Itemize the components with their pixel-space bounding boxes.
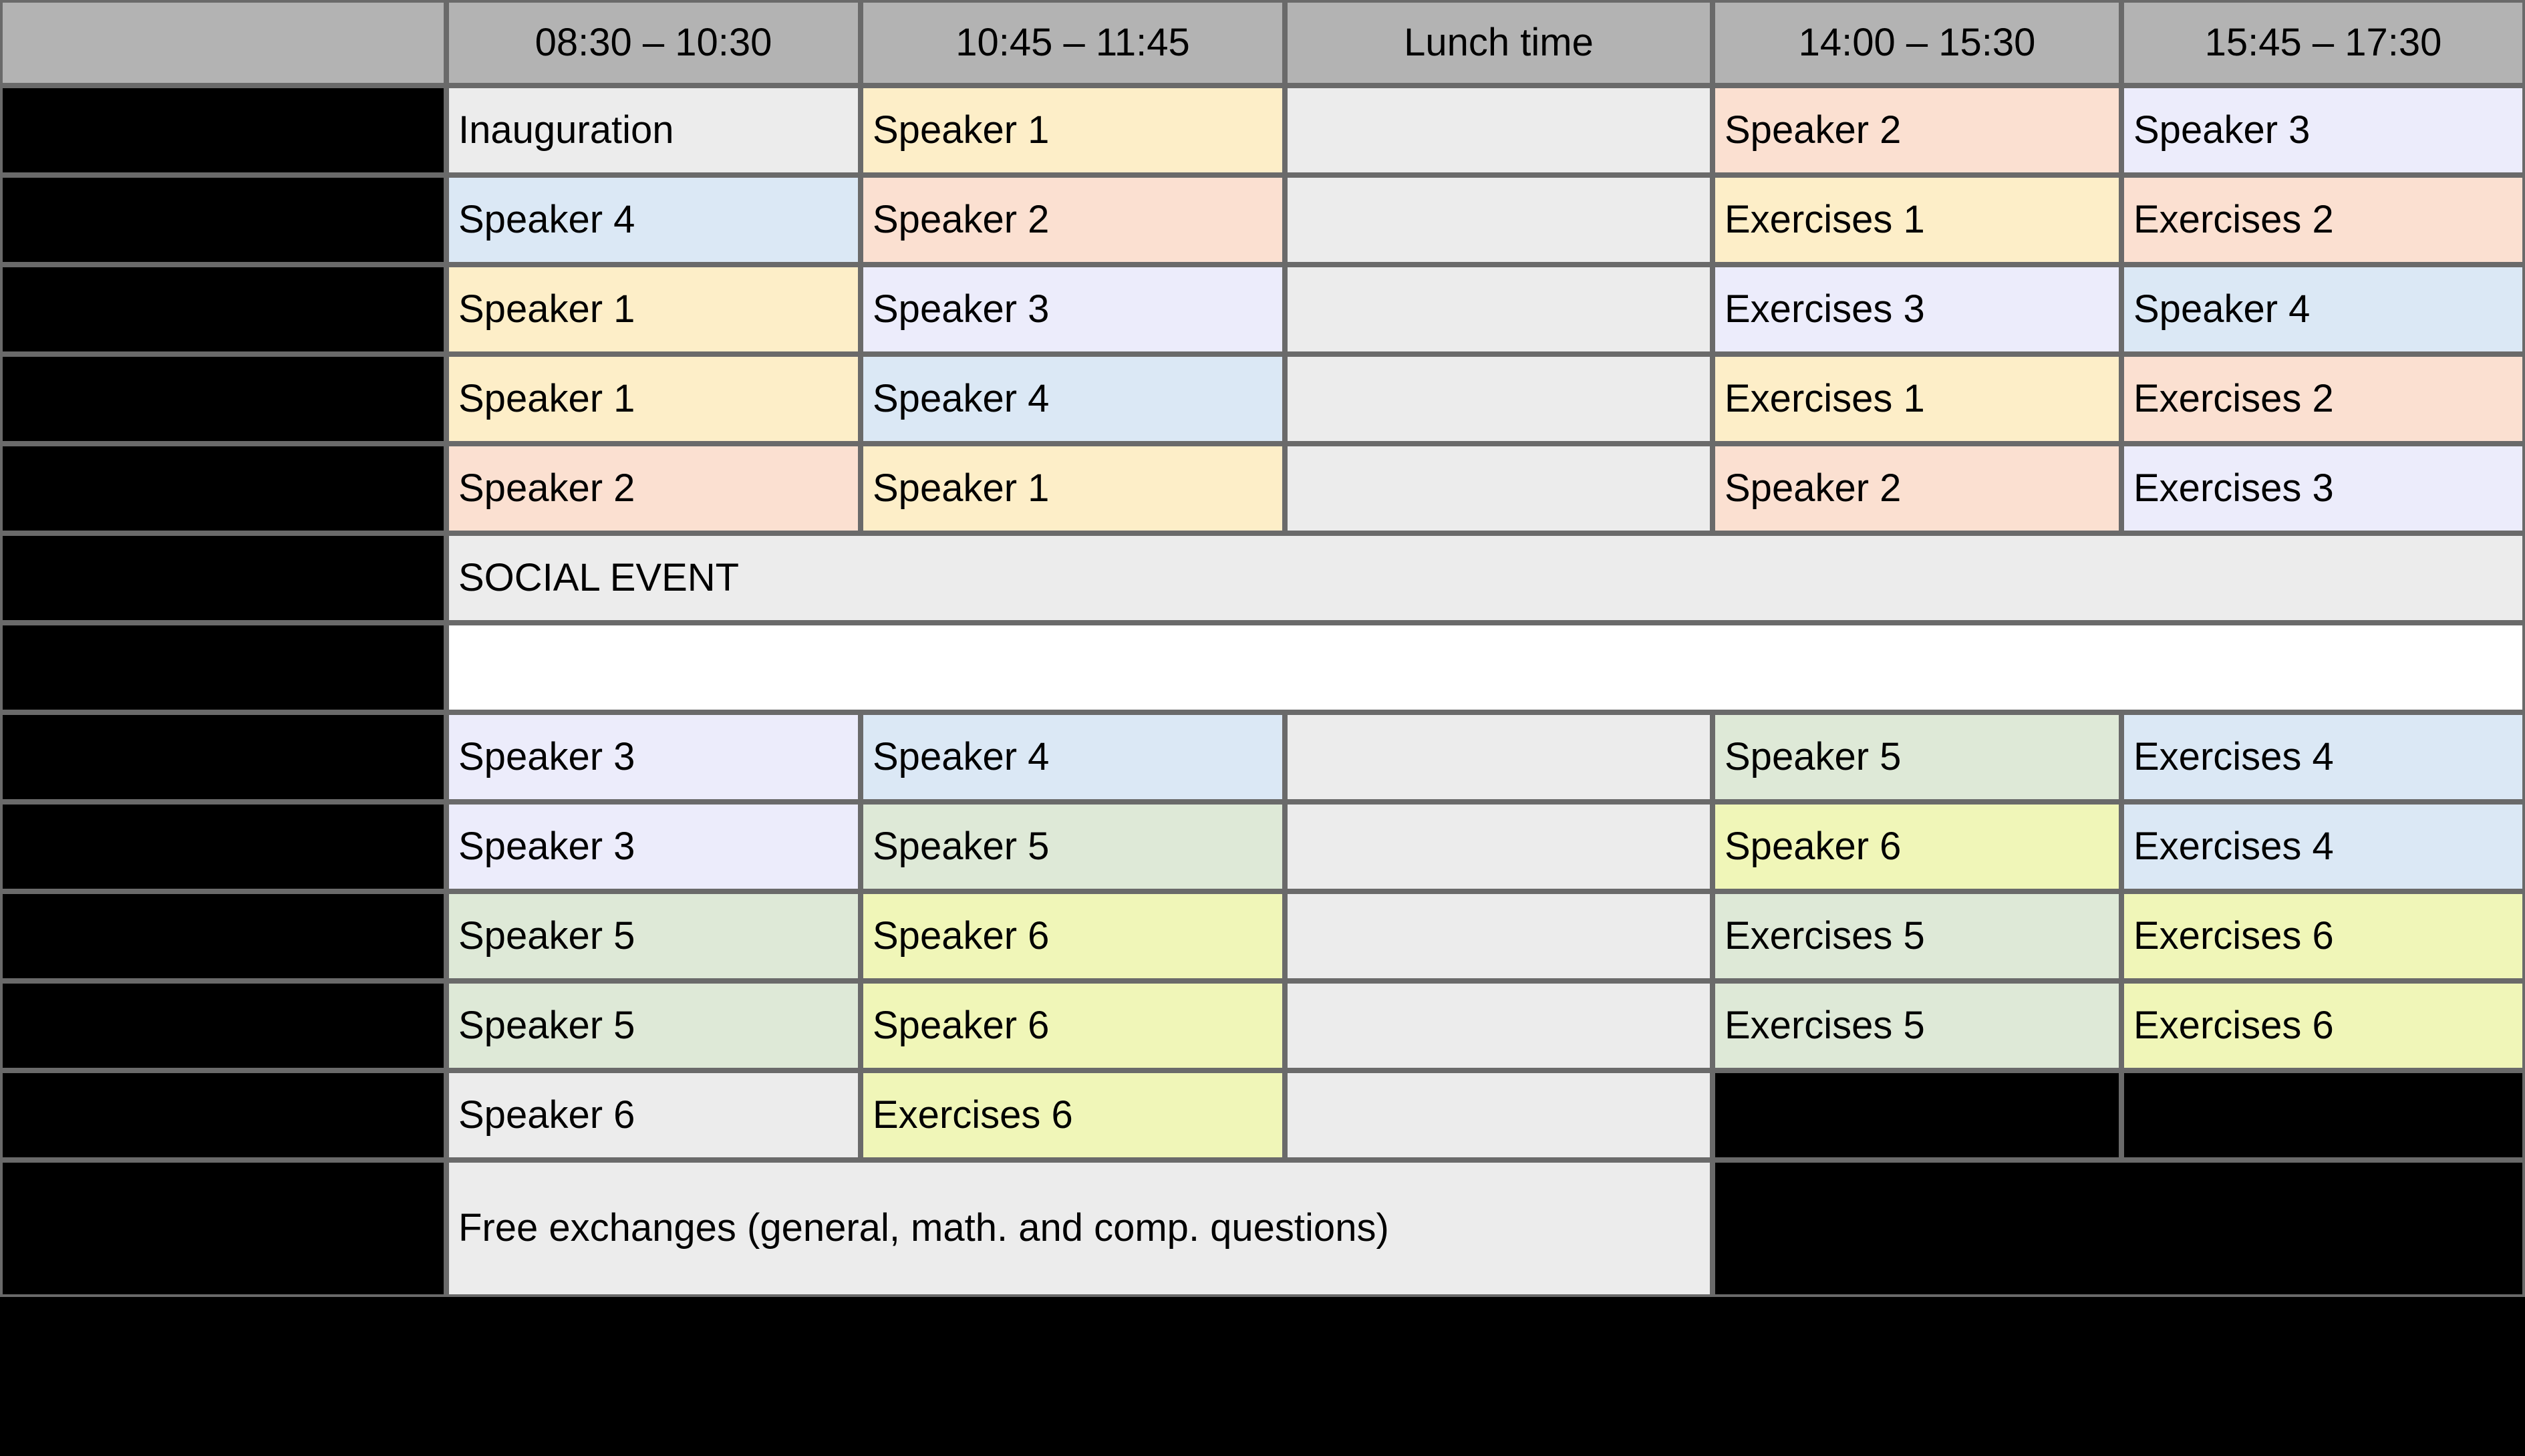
schedule-cell[interactable]: Speaker 5 [446,891,861,981]
day-label-cell: Saturday [0,533,446,623]
day-label-cell: Tuesday [0,802,446,891]
schedule-cell[interactable]: Speaker 3 [2121,86,2525,175]
header-slot-5: 15:45 – 17:30 [2121,0,2525,86]
schedule-cell[interactable]: Students [1713,1070,2121,1160]
schedule-row: WednesdaySpeaker 5Speaker 6Exercises 5Ex… [0,891,2525,981]
schedule-cell[interactable]: Speaker 2 [861,175,1285,265]
schedule-cell[interactable]: Speaker 5 [861,802,1285,891]
schedule-row: ThursdaySpeaker 5Speaker 6Exercises 5Exe… [0,981,2525,1070]
header-slot-4: 14:00 – 15:30 [1713,0,2121,86]
schedule-span-cell[interactable]: SOCIAL EVENT [446,533,2525,623]
schedule-cell[interactable] [1285,712,1713,802]
schedule-row: SaturdaySOCIAL EVENT [0,533,2525,623]
schedule-cell[interactable] [1285,354,1713,444]
header-slot-1: 08:30 – 10:30 [446,0,861,86]
schedule-span-cell[interactable] [446,623,2525,712]
schedule-cell[interactable]: Exercises 3 [1713,265,2121,354]
day-label-cell: Monday [0,712,446,802]
schedule-cell[interactable]: Inauguration [446,86,861,175]
schedule-cell[interactable] [1285,444,1713,533]
schedule-row: MondaySpeaker 3Speaker 4Speaker 5Exercis… [0,712,2525,802]
day-label-cell: Wednesday [0,265,446,354]
schedule-cell[interactable]: Speaker 2 [1713,444,2121,533]
schedule-cell[interactable] [1285,891,1713,981]
schedule-row: FridaySpeaker 6Exercises 6StudentsGuest … [0,1070,2525,1160]
schedule-cell[interactable]: Speaker 3 [861,265,1285,354]
schedule-row: TuesdaySpeaker 3Speaker 5Speaker 6Exerci… [0,802,2525,891]
schedule-cell[interactable]: Exercises 5 [1713,981,2121,1070]
schedule-row: Sunday [0,623,2525,712]
schedule-cell[interactable]: Speaker 6 [861,981,1285,1070]
day-label-cell: Thursday [0,354,446,444]
schedule-cell[interactable]: Exercises 5 [1713,891,2121,981]
header-lunch: Lunch time [1285,0,1713,86]
schedule-row: FridaySpeaker 2Speaker 1Speaker 2Exercis… [0,444,2525,533]
schedule-cell[interactable]: Speaker 1 [861,86,1285,175]
schedule-cell[interactable]: Exercises 2 [2121,175,2525,265]
schedule-row: WednesdaySpeaker 1Speaker 3Exercises 3Sp… [0,265,2525,354]
schedule-cell[interactable]: Exercises 4 [2121,712,2525,802]
day-label-cell: Monday [0,86,446,175]
schedule-cell[interactable]: Speaker 3 [446,802,861,891]
schedule-cell[interactable]: Speaker 2 [1713,86,2121,175]
schedule-cell[interactable] [1285,981,1713,1070]
schedule-cell[interactable]: Exercises 1 [1713,354,2121,444]
schedule-cell[interactable]: Speaker 1 [446,265,861,354]
schedule-cell[interactable]: Speaker 6 [1713,802,2121,891]
schedule-cell[interactable]: Exercises 4 [2121,802,2525,891]
schedule-cell[interactable]: Exercises 6 [2121,891,2525,981]
schedule-row: TuesdaySpeaker 4Speaker 2Exercises 1Exer… [0,175,2525,265]
schedule-cell[interactable]: Free exchanges (general, math. and comp.… [446,1160,1713,1297]
schedule-cell[interactable]: Speaker 1 [446,354,861,444]
schedule-row: MondayInaugurationSpeaker 1Speaker 2Spea… [0,86,2525,175]
day-label-cell: Friday [0,444,446,533]
schedule-cell[interactable]: Exercises 3 [2121,444,2525,533]
day-label-cell: Friday [0,1070,446,1160]
header-corner-cell [0,0,446,86]
day-label-cell: Thursday [0,981,446,1070]
schedule-cell[interactable] [1285,1070,1713,1160]
schedule-cell[interactable]: Speaker 5 [446,981,861,1070]
schedule-cell[interactable] [1285,86,1713,175]
schedule-cell[interactable]: Exercises 1 [1713,175,2121,265]
schedule-cell[interactable]: Guest lecture [2121,1070,2525,1160]
schedule-cell[interactable]: Speaker 5 [1713,712,2121,802]
schedule-cell[interactable]: Speaker 6 [446,1070,861,1160]
schedule-cell[interactable]: Speaker 3 [446,712,861,802]
schedule-root: 08:30 – 10:30 10:45 – 11:45 Lunch time 1… [0,0,2525,1456]
day-label-cell: Saturday [0,1160,446,1297]
schedule-row: ThursdaySpeaker 1Speaker 4Exercises 1Exe… [0,354,2525,444]
schedule-cell[interactable] [1285,802,1713,891]
schedule-cell[interactable] [1285,265,1713,354]
schedule-cell[interactable]: Speaker 4 [861,354,1285,444]
header-row: 08:30 – 10:30 10:45 – 11:45 Lunch time 1… [0,0,2525,86]
schedule-row: SaturdayFree exchanges (general, math. a… [0,1160,2525,1297]
conference-schedule-table: 08:30 – 10:30 10:45 – 11:45 Lunch time 1… [0,0,2525,1297]
schedule-cell[interactable]: Speaker 2 [446,444,861,533]
table-header: 08:30 – 10:30 10:45 – 11:45 Lunch time 1… [0,0,2525,86]
day-label-cell: Wednesday [0,891,446,981]
table-body: MondayInaugurationSpeaker 1Speaker 2Spea… [0,86,2525,1297]
header-slot-2: 10:45 – 11:45 [861,0,1285,86]
schedule-cell[interactable]: Speaker 4 [2121,265,2525,354]
schedule-cell[interactable]: Exercises 2 [2121,354,2525,444]
schedule-cell[interactable]: Speaker 1 [861,444,1285,533]
schedule-cell[interactable]: Speaker 4 [446,175,861,265]
day-label-cell: Sunday [0,623,446,712]
schedule-cell[interactable]: Speaker 4 [861,712,1285,802]
schedule-cell[interactable] [1285,175,1713,265]
schedule-cell[interactable]: Closing session [1713,1160,2525,1297]
schedule-cell[interactable]: Speaker 6 [861,891,1285,981]
schedule-cell[interactable]: Exercises 6 [2121,981,2525,1070]
day-label-cell: Tuesday [0,175,446,265]
schedule-cell[interactable]: Exercises 6 [861,1070,1285,1160]
